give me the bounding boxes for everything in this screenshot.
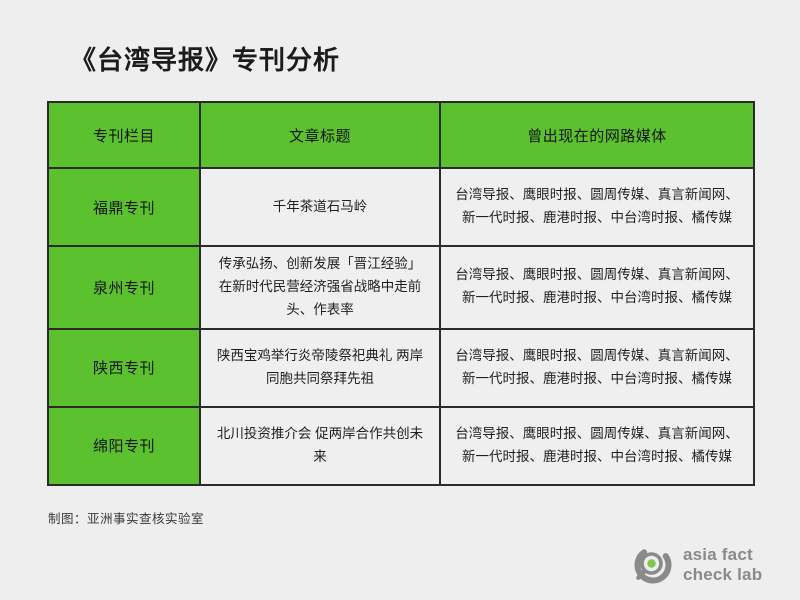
- magnifier-circle-icon: [632, 544, 674, 586]
- table-header: 专刊栏目 文章标题 曾出现在的网路媒体: [48, 102, 754, 168]
- analysis-table-container: 专刊栏目 文章标题 曾出现在的网路媒体 福鼎专刊 千年茶道石马岭 台湾导报、鹰眼…: [47, 101, 753, 486]
- brand-name-line2: check lab: [683, 565, 762, 585]
- page-title: 《台湾导报》专刊分析: [70, 40, 340, 77]
- brand-name: asia fact check lab: [683, 545, 762, 585]
- table-body: 福鼎专刊 千年茶道石马岭 台湾导报、鹰眼时报、圆周传媒、真言新闻网、新一代时报、…: [48, 168, 754, 485]
- cell-media: 台湾导报、鹰眼时报、圆周传媒、真言新闻网、新一代时报、鹿港时报、中台湾时报、橘传…: [440, 168, 754, 246]
- cell-section: 绵阳专刊: [48, 407, 200, 485]
- brand-logo: asia fact check lab: [632, 544, 762, 586]
- column-header-article-title: 文章标题: [200, 102, 440, 168]
- column-header-media: 曾出现在的网路媒体: [440, 102, 754, 168]
- table-row: 福鼎专刊 千年茶道石马岭 台湾导报、鹰眼时报、圆周传媒、真言新闻网、新一代时报、…: [48, 168, 754, 246]
- table-header-row: 专刊栏目 文章标题 曾出现在的网路媒体: [48, 102, 754, 168]
- cell-article-title: 北川投资推介会 促两岸合作共创未来: [200, 407, 440, 485]
- analysis-table: 专刊栏目 文章标题 曾出现在的网路媒体 福鼎专刊 千年茶道石马岭 台湾导报、鹰眼…: [47, 101, 755, 486]
- cell-article-title: 传承弘扬、创新发展「晋江经验」 在新时代民营经济强省战略中走前头、作表率: [200, 246, 440, 329]
- table-row: 绵阳专刊 北川投资推介会 促两岸合作共创未来 台湾导报、鹰眼时报、圆周传媒、真言…: [48, 407, 754, 485]
- cell-article-title: 千年茶道石马岭: [200, 168, 440, 246]
- cell-section: 福鼎专刊: [48, 168, 200, 246]
- cell-article-title: 陕西宝鸡举行炎帝陵祭祀典礼 两岸同胞共同祭拜先祖: [200, 329, 440, 407]
- cell-media: 台湾导报、鹰眼时报、圆周传媒、真言新闻网、新一代时报、鹿港时报、中台湾时报、橘传…: [440, 246, 754, 329]
- infographic-canvas: 《台湾导报》专刊分析 专刊栏目 文章标题 曾出现在的网路媒体 福鼎专刊 千年茶道…: [0, 0, 800, 600]
- cell-media: 台湾导报、鹰眼时报、圆周传媒、真言新闻网、新一代时报、鹿港时报、中台湾时报、橘传…: [440, 407, 754, 485]
- cell-section: 陕西专刊: [48, 329, 200, 407]
- table-row: 泉州专刊 传承弘扬、创新发展「晋江经验」 在新时代民营经济强省战略中走前头、作表…: [48, 246, 754, 329]
- credit-line: 制图：亚洲事实查核实验室: [48, 508, 204, 527]
- cell-section: 泉州专刊: [48, 246, 200, 329]
- column-header-section: 专刊栏目: [48, 102, 200, 168]
- cell-media: 台湾导报、鹰眼时报、圆周传媒、真言新闻网、新一代时报、鹿港时报、中台湾时报、橘传…: [440, 329, 754, 407]
- brand-name-line1: asia fact: [683, 545, 762, 565]
- table-row: 陕西专刊 陕西宝鸡举行炎帝陵祭祀典礼 两岸同胞共同祭拜先祖 台湾导报、鹰眼时报、…: [48, 329, 754, 407]
